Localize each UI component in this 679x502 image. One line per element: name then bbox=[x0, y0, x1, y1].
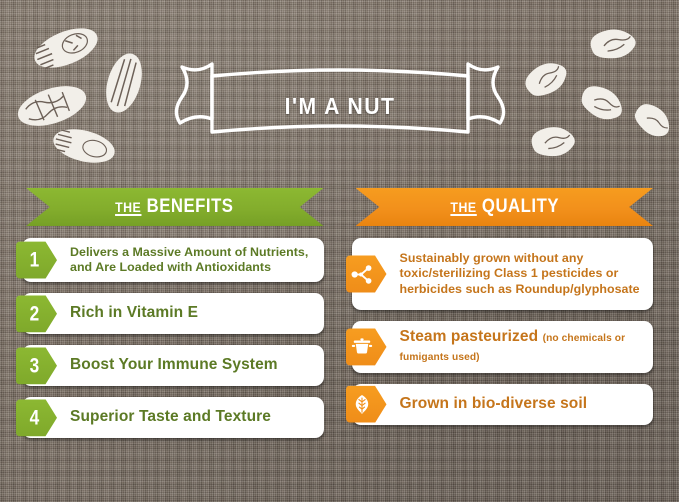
benefits-column: THE BENEFITS 1 Delivers a Massive Amount… bbox=[0, 182, 340, 502]
list-item[interactable]: Grown in bio-diverse soil bbox=[352, 384, 654, 425]
quality-column: THE QUALITY bbox=[340, 182, 679, 502]
badge-number: 1 bbox=[29, 250, 39, 271]
benefits-banner-title: BENEFITS bbox=[147, 196, 234, 218]
list-item-label: Boost Your Immune System bbox=[70, 356, 278, 375]
benefits-list: 1 Delivers a Massive Amount of Nutrients… bbox=[0, 238, 340, 449]
list-item[interactable]: 1 Delivers a Massive Amount of Nutrients… bbox=[22, 238, 324, 282]
list-item-label: Grown in bio-diverse soil bbox=[400, 395, 588, 414]
list-item[interactable]: 4 Superior Taste and Texture bbox=[22, 397, 324, 438]
list-item-main-text: Steam pasteurized bbox=[400, 328, 539, 345]
page-title: I'M A NUT bbox=[170, 58, 510, 152]
badge-number: 3 bbox=[29, 355, 39, 376]
list-item[interactable]: Steam pasteurized (no chemicals or fumig… bbox=[352, 321, 654, 373]
quality-list: Sustainably grown without any toxic/ster… bbox=[340, 238, 679, 436]
quality-section-banner: THE QUALITY bbox=[356, 188, 654, 226]
list-item-label: Delivers a Massive Amount of Nutrients, … bbox=[70, 245, 312, 275]
list-item[interactable]: Sustainably grown without any toxic/ster… bbox=[352, 238, 654, 310]
list-item[interactable]: 3 Boost Your Immune System bbox=[22, 345, 324, 386]
list-item-label: Superior Taste and Texture bbox=[70, 408, 271, 427]
header-band: I'M A NUT bbox=[0, 0, 679, 180]
benefits-banner-prefix: THE bbox=[116, 200, 142, 216]
badge-number: 2 bbox=[29, 303, 39, 324]
list-item-label: Sustainably grown without any toxic/ster… bbox=[400, 251, 642, 296]
nut-sketch-cluster-right-icon bbox=[510, 18, 678, 170]
list-item[interactable]: 2 Rich in Vitamin E bbox=[22, 293, 324, 334]
quality-banner-title: QUALITY bbox=[481, 196, 558, 218]
badge-number: 4 bbox=[29, 407, 39, 428]
content-columns: THE BENEFITS 1 Delivers a Massive Amount… bbox=[0, 182, 679, 502]
list-item-label: Steam pasteurized (no chemicals or fumig… bbox=[400, 328, 642, 366]
molecule-icon bbox=[351, 263, 373, 285]
list-item-label: Rich in Vitamin E bbox=[70, 304, 198, 323]
benefits-section-banner: THE BENEFITS bbox=[26, 188, 324, 226]
cooking-pot-icon bbox=[351, 336, 373, 358]
leaf-icon bbox=[351, 393, 373, 415]
quality-banner-prefix: THE bbox=[450, 200, 476, 216]
nut-sketch-cluster-left-icon bbox=[14, 18, 164, 168]
